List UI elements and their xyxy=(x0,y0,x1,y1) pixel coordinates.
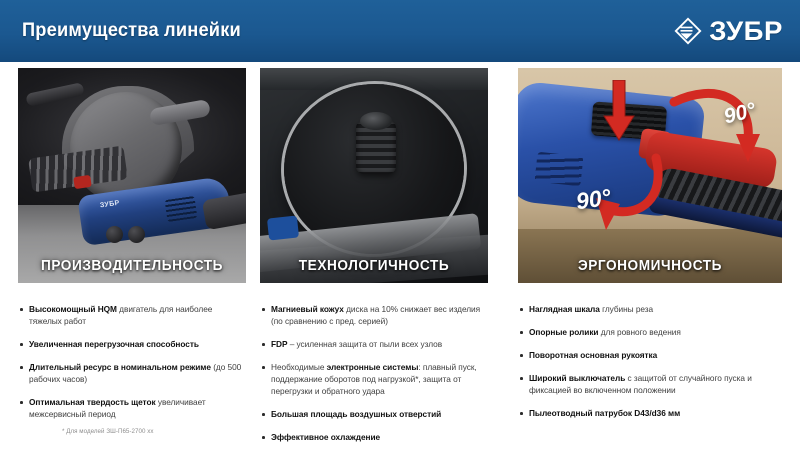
slide: Преимущества линейки ЗУБР xyxy=(0,0,800,450)
caption-ergonomics: ЭРГОНОМИЧНОСТЬ xyxy=(526,258,774,274)
column-technology: ТЕХНОЛОГИЧНОСТЬ Магниевый кожух диска на… xyxy=(260,68,488,450)
list-item: Широкий выключатель с защитой от случайн… xyxy=(518,372,782,396)
list-item: Высокомощный HQM двигатель для наиболее … xyxy=(18,303,246,327)
slide-header: Преимущества линейки ЗУБР xyxy=(0,0,800,62)
list-item: Увеличенная перегрузочная способность xyxy=(18,338,246,350)
photo1-red-accent xyxy=(73,175,92,189)
zubr-diamond-icon xyxy=(673,16,703,46)
brand-logo: ЗУБР xyxy=(673,16,782,46)
list-item: Магниевый кожух диска на 10% снижает вес… xyxy=(260,303,488,327)
list-item: FDP – усиленная защита от пыли всех узло… xyxy=(260,338,488,350)
angle-label-left: 90° xyxy=(574,184,612,216)
list-item: Эффективное охлаждение xyxy=(260,431,488,443)
brand-wordmark: ЗУБР xyxy=(709,18,783,45)
list-item: Опорные ролики для ровного ведения xyxy=(518,326,782,338)
list-item: Пылеотводный патрубок D43/d36 мм xyxy=(518,407,782,419)
bullet-list-technology: Магниевый кожух диска на 10% снижает вес… xyxy=(260,303,488,443)
caption-technology: ТЕХНОЛОГИЧНОСТЬ xyxy=(267,258,481,274)
photo1-rollers xyxy=(106,226,148,244)
list-item: Оптимальная твердость щеток увеличивает … xyxy=(18,396,246,420)
photo-technology: ТЕХНОЛОГИЧНОСТЬ xyxy=(260,68,488,283)
list-item: Длительный ресурс в номинальном режиме (… xyxy=(18,361,246,385)
photo-ergonomics: 90° 90° ЭРГОНОМИЧНОСТЬ xyxy=(518,68,782,283)
column-ergonomics: 90° 90° ЭРГОНОМИЧНОСТЬ Наглядная шкала г… xyxy=(518,68,782,430)
list-item: Необходимые электронные системы: плавный… xyxy=(260,361,488,397)
list-item: Наглядная шкала глубины реза xyxy=(518,303,782,315)
bullet-list-performance: Высокомощный HQM двигатель для наиболее … xyxy=(18,303,246,420)
arrow-down-icon xyxy=(602,80,636,142)
content-columns: ЗУБР ПРОИЗВОДИТЕЛЬНОСТЬ Высокомощный HQM… xyxy=(0,62,800,450)
photo2-blue-accent xyxy=(267,215,299,240)
column-performance: ЗУБР ПРОИЗВОДИТЕЛЬНОСТЬ Высокомощный HQM… xyxy=(18,68,246,431)
list-item: Большая площадь воздушных отверстий xyxy=(260,408,488,420)
footnote: * Для моделей ЗШ-П65-2700 хх xyxy=(62,428,154,435)
bullet-list-ergonomics: Наглядная шкала глубины реза Опорные рол… xyxy=(518,303,782,419)
photo2-hub xyxy=(356,120,396,174)
photo3-vents xyxy=(535,152,584,187)
caption-performance: ПРОИЗВОДИТЕЛЬНОСТЬ xyxy=(25,258,239,274)
page-title: Преимущества линейки xyxy=(22,20,241,42)
photo-performance: ЗУБР ПРОИЗВОДИТЕЛЬНОСТЬ xyxy=(18,68,246,283)
list-item: Поворотная основная рукоятка xyxy=(518,349,782,361)
photo1-vents xyxy=(165,196,198,222)
